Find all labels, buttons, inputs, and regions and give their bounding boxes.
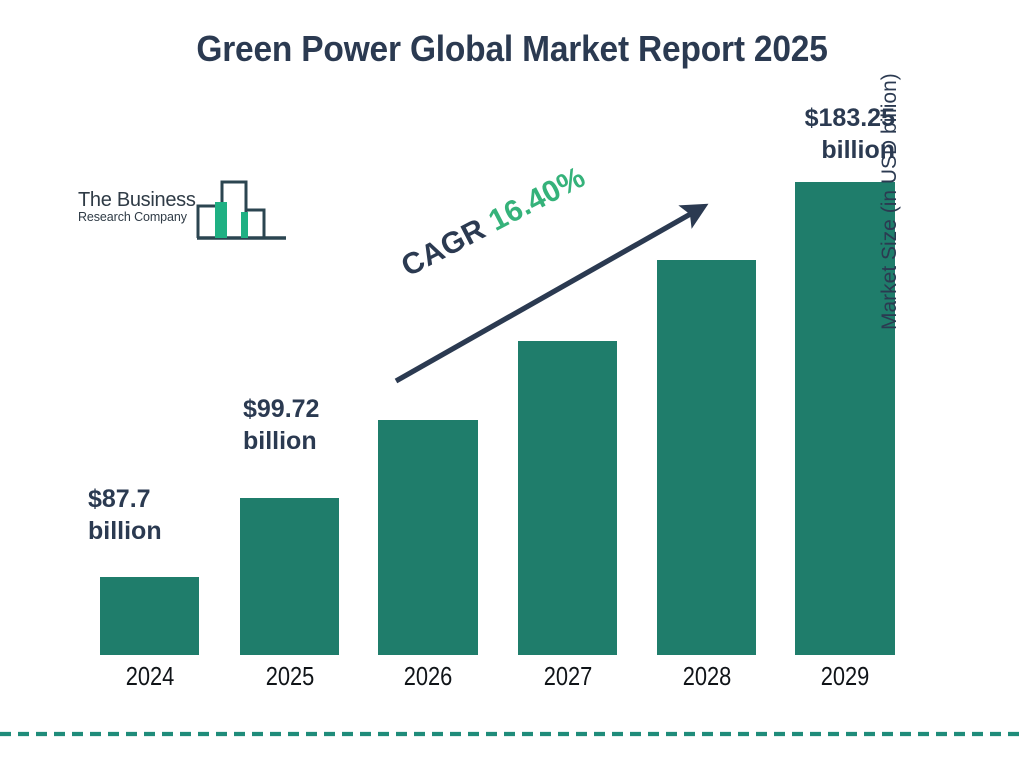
value-label-2024: $87.7 billion xyxy=(88,483,162,547)
value-label-2025-amount: $99.72 xyxy=(243,393,319,425)
x-tick-2024: 2024 xyxy=(108,661,192,692)
x-tick-2027: 2027 xyxy=(526,661,610,692)
cagr-value: 16.40% xyxy=(484,161,591,238)
bar-2024 xyxy=(100,577,199,655)
y-axis-title: Market Size (in USD billion) xyxy=(878,0,902,330)
value-label-2025-unit: billion xyxy=(243,425,319,457)
value-label-2024-unit: billion xyxy=(88,515,162,547)
x-tick-2028: 2028 xyxy=(665,661,749,692)
footer-dashed-rule xyxy=(0,726,1024,742)
cagr-label-word: CAGR xyxy=(396,213,491,284)
value-label-2024-amount: $87.7 xyxy=(88,483,162,515)
chart-canvas: Green Power Global Market Report 2025 Th… xyxy=(0,0,1024,768)
cagr-annotation: CAGR16.40% xyxy=(396,161,591,284)
logo-line-1: The Business xyxy=(78,190,212,210)
x-tick-2026: 2026 xyxy=(386,661,470,692)
page-title: Green Power Global Market Report 2025 xyxy=(36,28,988,70)
logo-line-2: Research Company xyxy=(78,211,212,224)
logo-text: The Business Research Company xyxy=(78,190,212,224)
x-tick-2029: 2029 xyxy=(803,661,887,692)
value-label-2029-amount: $183.25 xyxy=(695,102,895,134)
value-label-2029-unit: billion xyxy=(695,134,895,166)
bar-2028 xyxy=(657,260,756,655)
x-tick-2025: 2025 xyxy=(248,661,332,692)
value-label-2029: $183.25 billion xyxy=(695,102,895,166)
value-label-2025: $99.72 billion xyxy=(243,393,319,457)
bar-2027 xyxy=(518,341,617,655)
bar-chart-logo-mark xyxy=(196,176,288,248)
bar-2026 xyxy=(378,420,478,655)
bar-2025 xyxy=(240,498,339,655)
company-logo: The Business Research Company xyxy=(78,176,288,248)
